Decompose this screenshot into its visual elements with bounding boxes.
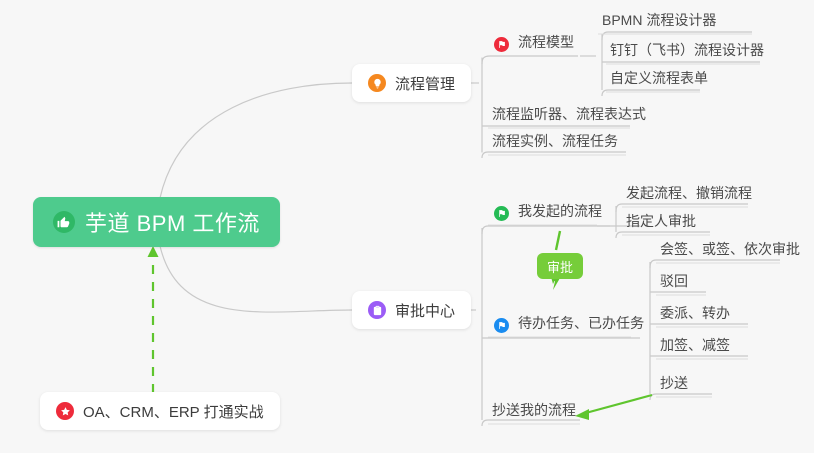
node-cc-to-me-process[interactable]: 抄送我的流程 <box>490 402 582 424</box>
node-custom-process-form[interactable]: 自定义流程表单 <box>608 70 714 92</box>
node-my-initiated-process[interactable]: 我发起的流程 <box>492 203 608 225</box>
node-designated-approver-label: 指定人审批 <box>626 211 696 231</box>
root-label: 芋道 BPM 工作流 <box>85 206 260 238</box>
arrow-cc-to-ccmine <box>575 395 652 420</box>
link-ac-to-initiated <box>482 226 640 234</box>
root-node[interactable]: 芋道 BPM 工作流 <box>33 197 280 247</box>
tag-approval-label: 审批 <box>547 257 573 276</box>
node-reject[interactable]: 驳回 <box>658 273 694 295</box>
mindmap-canvas: 芋道 BPM 工作流 流程管理 流程模型 BPMN 流程设计器 钉钉（飞书）流程… <box>0 0 814 453</box>
footer-node-oa-crm-erp[interactable]: OA、CRM、ERP 打通实战 <box>40 392 280 430</box>
node-dingtalk-feishu-designer[interactable]: 钉钉（飞书）流程设计器 <box>608 42 770 64</box>
branch-approval-center-label: 审批中心 <box>395 300 455 321</box>
link-pm-to-process-model <box>482 56 578 64</box>
node-todo-done-tasks[interactable]: 待办任务、已办任务 <box>492 315 650 337</box>
node-start-cancel-process[interactable]: 发起流程、撤销流程 <box>624 185 758 207</box>
node-process-instance-task-label: 流程实例、流程任务 <box>492 131 618 151</box>
dashed-arrow-footer-to-root <box>148 246 159 393</box>
node-carbon-copy-label: 抄送 <box>660 373 688 393</box>
branch-approval-center[interactable]: 审批中心 <box>352 291 471 329</box>
node-cc-to-me-process-label: 抄送我的流程 <box>492 400 576 420</box>
branch-process-management[interactable]: 流程管理 <box>352 64 471 102</box>
node-add-remove-sign-label: 加签、减签 <box>660 335 730 355</box>
node-countersign-orsign-sequential-label: 会签、或签、依次审批 <box>660 239 800 259</box>
node-bpmn-designer[interactable]: BPMN 流程设计器 <box>600 12 722 34</box>
node-todo-done-tasks-label: 待办任务、已办任务 <box>518 313 644 333</box>
footer-node-label: OA、CRM、ERP 打通实战 <box>83 401 264 422</box>
flag-icon <box>494 37 509 52</box>
node-delegate-transfer-label: 委派、转办 <box>660 303 730 323</box>
node-bpmn-designer-label: BPMN 流程设计器 <box>602 10 716 30</box>
node-custom-process-form-label: 自定义流程表单 <box>610 68 708 88</box>
star-icon <box>56 402 74 420</box>
branch-process-management-label: 流程管理 <box>395 73 455 94</box>
node-my-initiated-process-label: 我发起的流程 <box>518 201 602 221</box>
node-dingtalk-feishu-designer-label: 钉钉（飞书）流程设计器 <box>610 40 764 60</box>
node-process-instance-task[interactable]: 流程实例、流程任务 <box>490 133 624 155</box>
thumbs-up-icon <box>53 211 75 233</box>
flag-icon <box>494 206 509 221</box>
link-root-to-approval-center <box>160 246 352 312</box>
node-process-model[interactable]: 流程模型 <box>492 34 580 56</box>
node-reject-label: 驳回 <box>660 271 688 291</box>
node-start-cancel-process-label: 发起流程、撤销流程 <box>626 183 752 203</box>
link-root-to-process-management <box>160 83 352 198</box>
node-process-listener-expression[interactable]: 流程监听器、流程表达式 <box>490 106 652 128</box>
clipboard-icon <box>368 301 386 319</box>
node-countersign-orsign-sequential[interactable]: 会签、或签、依次审批 <box>658 241 806 263</box>
node-add-remove-sign[interactable]: 加签、减签 <box>658 337 736 359</box>
tag-approval[interactable]: 审批 <box>537 253 583 279</box>
flag-icon <box>494 318 509 333</box>
node-delegate-transfer[interactable]: 委派、转办 <box>658 305 736 327</box>
lightbulb-icon <box>368 74 386 92</box>
node-carbon-copy[interactable]: 抄送 <box>658 375 694 397</box>
node-process-listener-expression-label: 流程监听器、流程表达式 <box>492 104 646 124</box>
node-process-model-label: 流程模型 <box>518 32 574 52</box>
node-designated-approver[interactable]: 指定人审批 <box>624 213 702 235</box>
